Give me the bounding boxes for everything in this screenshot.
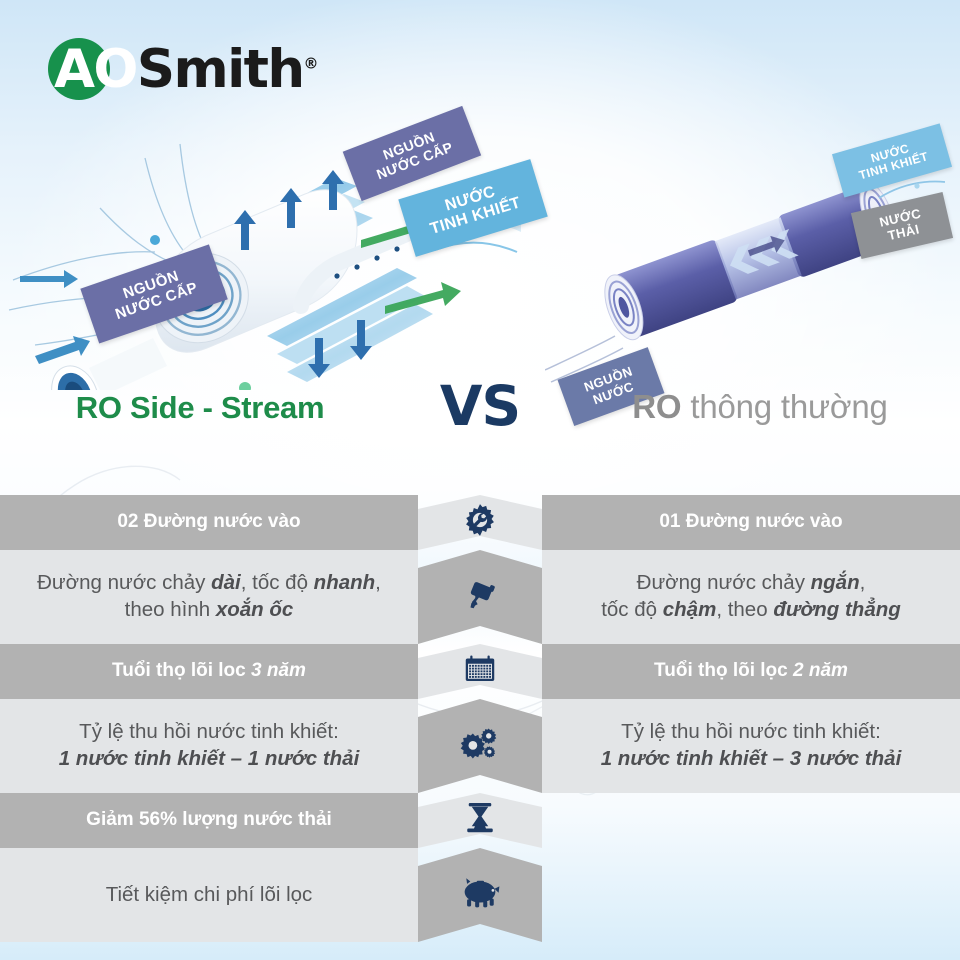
comparison-cell-conventional: Đường nước chảy ngắn,tốc độ chậm, theo đ…	[542, 550, 960, 644]
title-right: RO thông thường	[560, 388, 960, 426]
piggy-bank-icon	[459, 875, 501, 909]
cell-text: Tuổi thọ lõi lọc 2 năm	[654, 659, 848, 684]
title-left: RO Side - Stream	[0, 390, 400, 426]
comparison-icon-column	[418, 495, 542, 550]
comparison-cell-conventional: Tuổi thọ lõi lọc 2 năm	[542, 644, 960, 699]
comparison-row: Giảm 56% lượng nước thải	[0, 793, 960, 848]
comparison-cell-side-stream: Tỷ lệ thu hồi nước tinh khiết:1 nước tin…	[0, 699, 418, 793]
comparison-cell-side-stream: Giảm 56% lượng nước thải	[0, 793, 418, 848]
comparison-titles: RO Side - Stream VS RO thông thường	[0, 382, 960, 454]
gears-icon	[459, 724, 501, 762]
comparison-cell-side-stream: Tiết kiệm chi phí lõi lọc	[0, 848, 418, 942]
comparison-icon-column	[418, 793, 542, 848]
comparison-icon-column	[418, 644, 542, 699]
comparison-row: Đường nước chảy dài, tốc độ nhanh,theo h…	[0, 550, 960, 644]
brand-logo: AOSmith®	[48, 36, 319, 102]
cell-text: Giảm 56% lượng nước thải	[86, 808, 332, 833]
comparison-cell-conventional	[542, 848, 960, 942]
cell-text: Tuổi thọ lõi loc 3 năm	[112, 659, 306, 684]
comparison-cell-conventional: 01 Đường nước vào	[542, 495, 960, 550]
calendar-icon	[461, 651, 499, 687]
title-vs: VS	[400, 374, 560, 438]
logo-wordmark: AOSmith®	[48, 43, 319, 96]
comparison-cell-conventional	[542, 793, 960, 848]
cell-text: Tỷ lệ thu hồi nước tinh khiết:1 nước tin…	[59, 719, 360, 772]
comparison-cell-side-stream: 02 Đường nước vào	[0, 495, 418, 550]
comparison-cell-side-stream: Tuổi thọ lõi loc 3 năm	[0, 644, 418, 699]
comparison-cell-conventional: Tỷ lệ thu hồi nước tinh khiết:1 nước tin…	[542, 699, 960, 793]
comparison-cell-side-stream: Đường nước chảy dài, tốc độ nhanh,theo h…	[0, 550, 418, 644]
comparison-row: Tỷ lệ thu hồi nước tinh khiết:1 nước tin…	[0, 699, 960, 793]
hourglass-icon	[464, 800, 496, 836]
comparison-row: 02 Đường nước vào01 Đường nước vào	[0, 495, 960, 550]
logo-ao-text: AO	[54, 39, 137, 100]
cell-text: 02 Đường nước vào	[117, 510, 300, 535]
cell-text: Đường nước chảy dài, tốc độ nhanh,theo h…	[37, 570, 381, 623]
comparison-icon-column	[418, 848, 542, 942]
comparison-icon-column	[418, 550, 542, 644]
faucet-icon	[460, 575, 500, 613]
product-illustration-area: NGUỒN NƯỚC CẤP NGUỒN NƯỚC CẤP NƯỚC TINH …	[0, 100, 960, 390]
comparison-table: 02 Đường nước vào01 Đường nước vào Đường…	[0, 495, 960, 907]
title-right-bold: RO	[632, 388, 681, 425]
cell-text: Tiết kiệm chi phí lõi lọc	[106, 882, 313, 909]
infographic-page: AOSmith®	[0, 0, 960, 960]
title-right-rest: thông thường	[681, 388, 887, 425]
comparison-row: Tuổi thọ lõi loc 3 nămTuổi thọ lõi lọc 2…	[0, 644, 960, 699]
cell-text: Tỷ lệ thu hồi nước tinh khiết:1 nước tin…	[601, 719, 902, 772]
comparison-icon-column	[418, 699, 542, 793]
logo-smith-text: Smith	[137, 39, 304, 100]
gear-wrench-icon	[461, 501, 499, 539]
cell-text: Đường nước chảy ngắn,tốc độ chậm, theo đ…	[601, 570, 901, 623]
logo-registered-mark: ®	[304, 54, 319, 72]
cell-text: 01 Đường nước vào	[659, 510, 842, 535]
comparison-row: Tiết kiệm chi phí lõi lọc	[0, 848, 960, 942]
